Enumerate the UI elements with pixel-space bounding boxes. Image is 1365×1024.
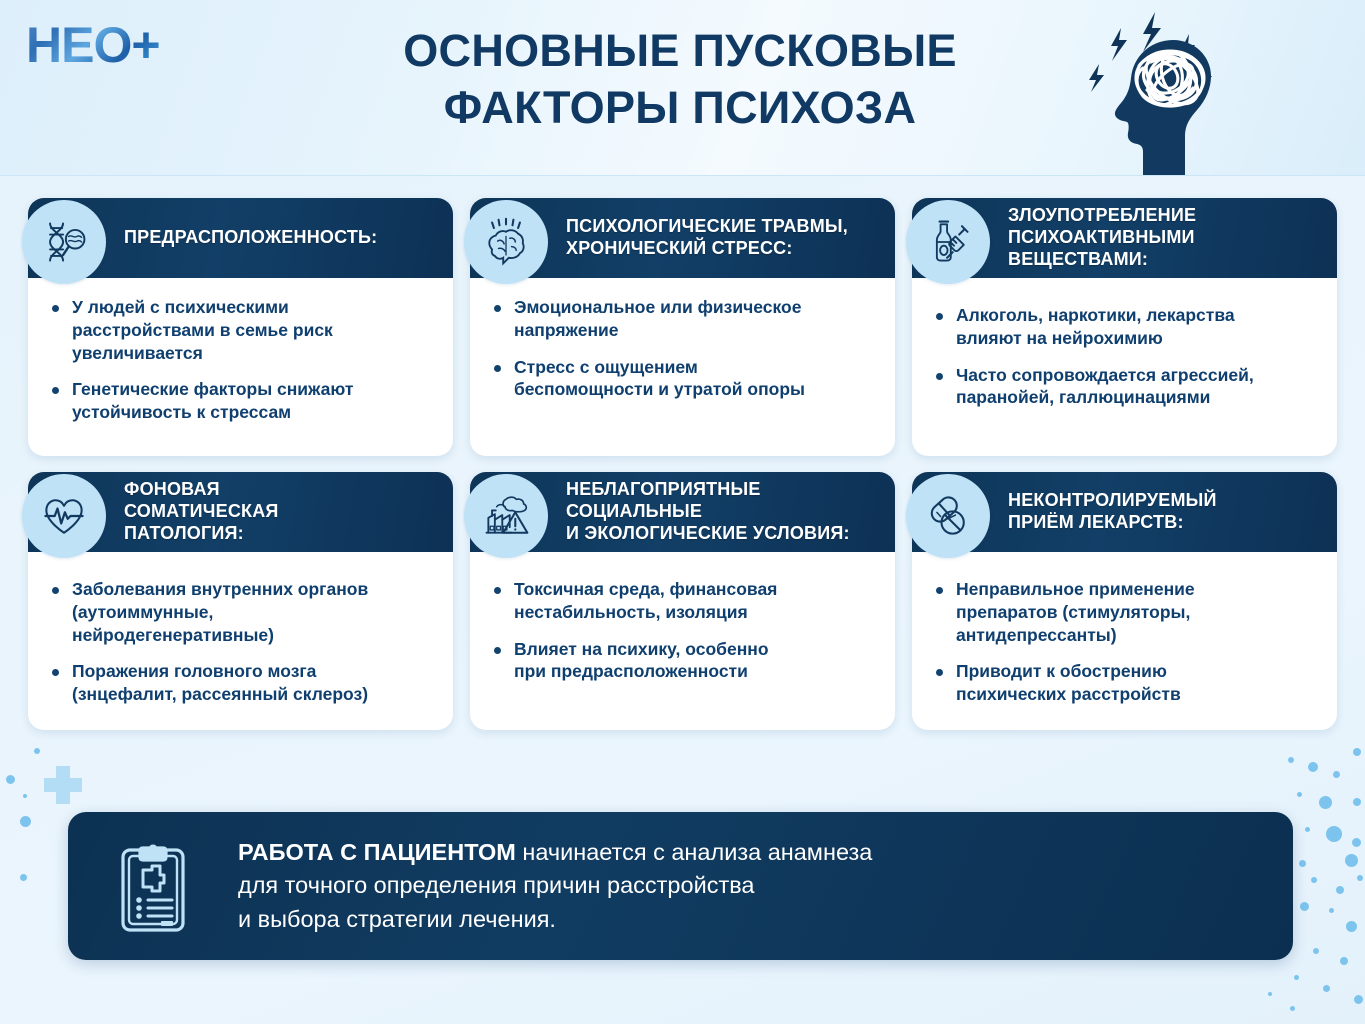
card-title-line: ХРОНИЧЕСКИЙ СТРЕСС:	[566, 238, 848, 260]
dot-decoration	[1300, 902, 1309, 911]
card-body: Токсичная среда, финансовая нестабильнос…	[470, 552, 895, 693]
patient-work-banner: РАБОТА С ПАЦИЕНТОМ начинается с анализа …	[68, 812, 1293, 960]
card-title-line: ПАТОЛОГИЯ:	[124, 523, 279, 545]
card-title-line: НЕБЛАГОПРИЯТНЫЕ	[566, 479, 850, 501]
list-item: Токсичная среда, финансовая нестабильнос…	[490, 578, 875, 624]
dot-decoration	[23, 794, 27, 798]
bullet-line: Приводит к обострению	[956, 660, 1317, 683]
card-header: ПРЕДРАСПОЛОЖЕННОСТЬ:	[28, 198, 453, 278]
bullet-list: У людей с психическими расстройствами в …	[48, 296, 433, 424]
dot-decoration	[1319, 796, 1332, 809]
dot-decoration	[1290, 1006, 1295, 1011]
card-title-line: ПСИХОЛОГИЧЕСКИЕ ТРАВМЫ,	[566, 216, 848, 238]
list-item: Алкоголь, наркотики, лекарства влияют на…	[932, 304, 1317, 350]
bullet-line: Алкоголь, наркотики, лекарства	[956, 304, 1317, 327]
bullet-line: при предрасположенности	[514, 660, 875, 683]
banner-line-1-rest: начинается с анализа анамнеза	[516, 839, 873, 865]
bullet-line: нейродегенеративные)	[72, 624, 433, 647]
clipboard-medical-icon	[68, 838, 238, 934]
dot-decoration	[1288, 757, 1294, 763]
card-header: НЕБЛАГОПРИЯТНЫЕ СОЦИАЛЬНЫЕ И ЭКОЛОГИЧЕСК…	[470, 472, 895, 552]
factory-warning-icon	[464, 474, 548, 558]
heart-pulse-icon	[22, 474, 106, 558]
list-item: У людей с психическими расстройствами в …	[48, 296, 433, 364]
bullet-list: Токсичная среда, финансовая нестабильнос…	[490, 578, 875, 683]
bullet-line: (знцефалит, рассеянный склероз)	[72, 683, 433, 706]
dot-decoration	[1333, 771, 1340, 778]
list-item: Заболевания внутренних органов (аутоимму…	[48, 578, 433, 646]
bullet-line: влияют на нейрохимию	[956, 327, 1317, 350]
card-title-line: ПСИХОАКТИВНЫМИ	[1008, 227, 1196, 249]
card-uncontrolled-medication: НЕКОНТРОЛИРУЕМЫЙ ПРИЁМ ЛЕКАРСТВ: Неправи…	[912, 472, 1337, 730]
card-body: Неправильное применение препаратов (стим…	[912, 552, 1337, 716]
bullet-line: Неправильное применение	[956, 578, 1317, 601]
card-title-line: ПРИЁМ ЛЕКАРСТВ:	[1008, 512, 1217, 534]
bullet-line: антидепрессанты)	[956, 624, 1317, 647]
card-title-line: СОЦИАЛЬНЫЕ	[566, 501, 850, 523]
bullet-line: (аутоиммунные,	[72, 601, 433, 624]
card-header: ФОНОВАЯ СОМАТИЧЕСКАЯ ПАТОЛОГИЯ:	[28, 472, 453, 552]
dot-decoration	[1353, 748, 1361, 756]
card-psychological-trauma: ПСИХОЛОГИЧЕСКИЕ ТРАВМЫ, ХРОНИЧЕСКИЙ СТРЕ…	[470, 198, 895, 456]
dot-decoration	[20, 874, 27, 881]
bottle-syringe-icon	[906, 200, 990, 284]
dot-decoration	[1313, 948, 1319, 954]
card-title-line: ФОНОВАЯ	[124, 479, 279, 501]
infographic-page: НЕО+ ОСНОВНЫЕ ПУСКОВЫЕ ФАКТОРЫ ПСИХОЗА	[0, 0, 1365, 1024]
list-item: Поражения головного мозга (знцефалит, ра…	[48, 660, 433, 706]
bullet-line: Влияет на психику, особенно	[514, 638, 875, 661]
dot-decoration	[1305, 827, 1310, 832]
card-predisposition: ПРЕДРАСПОЛОЖЕННОСТЬ: У людей с психическ…	[28, 198, 453, 456]
card-body: У людей с психическими расстройствами в …	[28, 278, 453, 434]
bullet-line: нестабильность, изоляция	[514, 601, 875, 624]
dot-decoration	[1354, 995, 1363, 1004]
dot-decoration	[34, 748, 40, 754]
list-item: Генетические факторы снижают устойчивост…	[48, 378, 433, 424]
dot-decoration	[1353, 798, 1361, 806]
card-title-line: СОМАТИЧЕСКАЯ	[124, 501, 279, 523]
card-title-line: ЗЛОУПОТРЕБЛЕНИЕ	[1008, 205, 1196, 227]
dot-decoration	[1268, 992, 1272, 996]
banner-line-2: для точного определения причин расстройс…	[238, 869, 872, 902]
bullet-line: У людей с психическими	[72, 296, 433, 319]
card-title-line: НЕКОНТРОЛИРУЕМЫЙ	[1008, 490, 1217, 512]
bullet-line: устойчивость к стрессам	[72, 401, 433, 424]
bullet-line: препаратов (стимуляторы,	[956, 601, 1317, 624]
bullet-line: Заболевания внутренних органов	[72, 578, 433, 601]
stressed-brain-icon	[464, 200, 548, 284]
bullet-line: Токсичная среда, финансовая	[514, 578, 875, 601]
dot-decoration	[1299, 860, 1306, 867]
dot-decoration	[1336, 886, 1344, 894]
card-header: ЗЛОУПОТРЕБЛЕНИЕ ПСИХОАКТИВНЫМИ ВЕЩЕСТВАМ…	[912, 198, 1337, 278]
bullet-line: паранойей, галлюцинациями	[956, 386, 1317, 409]
card-title-line: И ЭКОЛОГИЧЕСКИЕ УСЛОВИЯ:	[566, 523, 850, 545]
dot-decoration	[20, 816, 31, 827]
banner-bold-lead: РАБОТА С ПАЦИЕНТОМ	[238, 839, 516, 865]
bullet-line: беспомощности и утратой опоры	[514, 378, 875, 401]
banner-line-3: и выбора стратегии лечения.	[238, 903, 872, 936]
dot-decoration	[1357, 875, 1363, 881]
bullet-line: Стресс с ощущением	[514, 356, 875, 379]
pills-icon	[906, 474, 990, 558]
dot-decoration	[1323, 985, 1330, 992]
card-body: Алкоголь, наркотики, лекарства влияют на…	[912, 278, 1337, 419]
head-tangled-brain-illustration	[1077, 6, 1273, 176]
bullet-line: напряжение	[514, 319, 875, 342]
bullet-list: Алкоголь, наркотики, лекарства влияют на…	[932, 304, 1317, 409]
card-somatic-pathology: ФОНОВАЯ СОМАТИЧЕСКАЯ ПАТОЛОГИЯ: Заболева…	[28, 472, 453, 730]
card-substance-abuse: ЗЛОУПОТРЕБЛЕНИЕ ПСИХОАКТИВНЫМИ ВЕЩЕСТВАМ…	[912, 198, 1337, 456]
dot-decoration	[1345, 854, 1358, 867]
brand-logo[interactable]: НЕО+	[26, 16, 202, 74]
page-header: НЕО+ ОСНОВНЫЕ ПУСКОВЫЕ ФАКТОРЫ ПСИХОЗА	[0, 0, 1365, 176]
page-title-line-1: ОСНОВНЫЕ ПУСКОВЫЕ	[300, 22, 1060, 79]
bullet-line: Эмоциональное или физическое	[514, 296, 875, 319]
list-item: Часто сопровождается агрессией, паранойе…	[932, 364, 1317, 410]
card-header: НЕКОНТРОЛИРУЕМЫЙ ПРИЁМ ЛЕКАРСТВ:	[912, 472, 1337, 552]
dot-decoration	[1329, 908, 1334, 913]
dot-decoration	[1297, 792, 1302, 797]
bullet-line: Часто сопровождается агрессией,	[956, 364, 1317, 387]
bullet-line: психических расстройств	[956, 683, 1317, 706]
bullet-list: Заболевания внутренних органов (аутоимму…	[48, 578, 433, 706]
page-title-line-2: ФАКТОРЫ ПСИХОЗА	[300, 79, 1060, 136]
dna-magnifier-icon	[22, 200, 106, 284]
banner-text: РАБОТА С ПАЦИЕНТОМ начинается с анализа …	[238, 836, 902, 936]
dot-decoration	[1326, 826, 1342, 842]
banner-line-1: РАБОТА С ПАЦИЕНТОМ начинается с анализа …	[238, 836, 872, 869]
bullet-list: Неправильное применение препаратов (стим…	[932, 578, 1317, 706]
bullet-line: расстройствами в семье риск	[72, 319, 433, 342]
list-item: Неправильное применение препаратов (стим…	[932, 578, 1317, 646]
card-header: ПСИХОЛОГИЧЕСКИЕ ТРАВМЫ, ХРОНИЧЕСКИЙ СТРЕ…	[470, 198, 895, 278]
dot-decoration	[1340, 957, 1348, 965]
dot-decoration	[1346, 921, 1357, 932]
dot-decoration	[1308, 762, 1318, 772]
bullet-line: Генетические факторы снижают	[72, 378, 433, 401]
card-body: Эмоциональное или физическое напряжение …	[470, 278, 895, 411]
dot-decoration	[1294, 975, 1299, 980]
card-title-line: ВЕЩЕСТВАМИ:	[1008, 249, 1196, 271]
list-item: Стресс с ощущением беспомощности и утрат…	[490, 356, 875, 402]
cross-decoration	[44, 766, 82, 804]
list-item: Приводит к обострению психических расстр…	[932, 660, 1317, 706]
card-body: Заболевания внутренних органов (аутоимму…	[28, 552, 453, 716]
card-social-ecological: НЕБЛАГОПРИЯТНЫЕ СОЦИАЛЬНЫЕ И ЭКОЛОГИЧЕСК…	[470, 472, 895, 730]
bullet-line: увеличивается	[72, 342, 433, 365]
factors-grid: ПРЕДРАСПОЛОЖЕННОСТЬ: У людей с психическ…	[28, 198, 1337, 730]
dot-decoration	[6, 775, 15, 784]
bullet-list: Эмоциональное или физическое напряжение …	[490, 296, 875, 401]
brand-logo-text: НЕО+	[26, 16, 202, 74]
list-item: Эмоциональное или физическое напряжение	[490, 296, 875, 342]
dot-decoration	[1352, 838, 1361, 847]
page-title: ОСНОВНЫЕ ПУСКОВЫЕ ФАКТОРЫ ПСИХОЗА	[300, 22, 1060, 136]
list-item: Влияет на психику, особенно при предрасп…	[490, 638, 875, 684]
bullet-line: Поражения головного мозга	[72, 660, 433, 683]
card-title-line: ПРЕДРАСПОЛОЖЕННОСТЬ:	[124, 227, 377, 249]
dot-decoration	[1311, 877, 1317, 883]
